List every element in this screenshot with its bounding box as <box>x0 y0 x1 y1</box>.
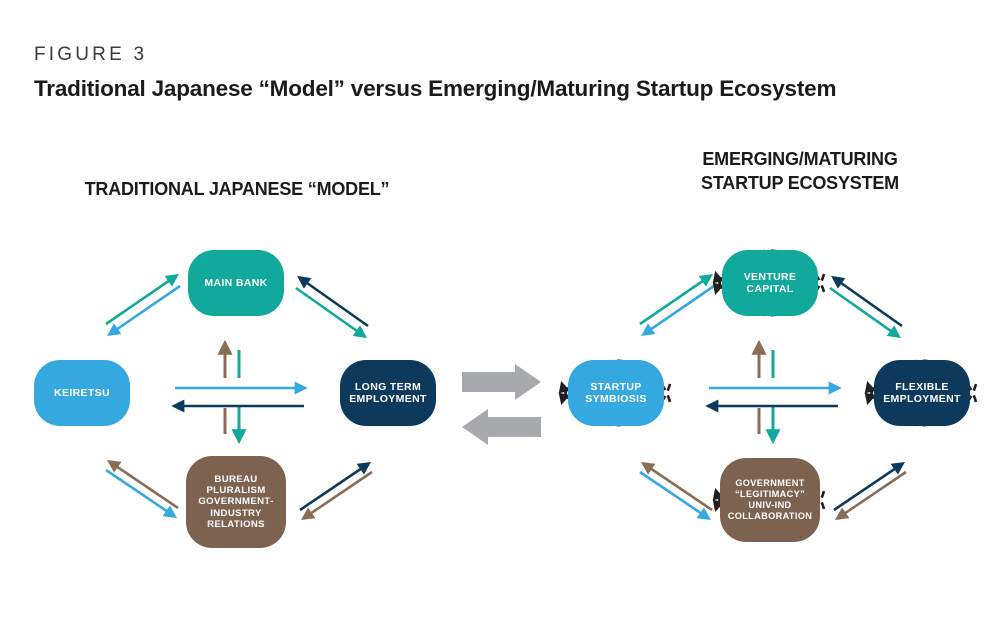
node-long-term-employment[interactable]: LONG TERM EMPLOYMENT <box>340 360 436 426</box>
node-flexible-employment-label: FLEXIBLE EMPLOYMENT <box>883 381 961 406</box>
arrow-pair-right-bottomright <box>834 464 906 518</box>
arrow-pair-right-bottomleft <box>640 464 712 518</box>
node-long-term-employment-label: LONG TERM EMPLOYMENT <box>349 381 427 406</box>
arrow-pair-left-bottomleft <box>106 462 178 516</box>
node-government-legitimacy-label: GOVERNMENT “LEGITIMACY” UNIV-IND COLLABO… <box>728 478 813 521</box>
arrow-pair-right-topleft <box>640 276 714 334</box>
arrow-pair-left-bottomright <box>300 464 372 518</box>
figure-root: FIGURE 3 Traditional Japanese “Model” ve… <box>0 0 1000 633</box>
arrow-center-right-cluster <box>709 344 838 440</box>
arrow-pair-left-topright <box>296 278 368 336</box>
node-main-bank-label: MAIN BANK <box>204 277 267 289</box>
arrow-layer <box>0 0 1000 633</box>
node-keiretsu[interactable]: KEIRETSU <box>34 360 130 426</box>
arrow-center-left-cluster <box>175 344 304 440</box>
node-main-bank[interactable]: MAIN BANK <box>188 250 284 316</box>
node-startup-symbiosis[interactable]: STARTUP SYMBIOSIS <box>568 360 664 426</box>
arrow-pair-left-topleft <box>106 276 180 334</box>
gray-transition-arrows <box>462 364 541 445</box>
node-startup-symbiosis-label: STARTUP SYMBIOSIS <box>585 381 647 406</box>
node-flexible-employment[interactable]: FLEXIBLE EMPLOYMENT <box>874 360 970 426</box>
node-bureau-pluralism-label: BUREAU PLURALISM GOVERNMENT- INDUSTRY RE… <box>198 474 273 530</box>
node-keiretsu-label: KEIRETSU <box>54 387 110 399</box>
node-bureau-pluralism[interactable]: BUREAU PLURALISM GOVERNMENT- INDUSTRY RE… <box>186 456 286 548</box>
arrow-pair-right-topright <box>830 278 902 336</box>
node-venture-capital[interactable]: VENTURE CAPITAL <box>722 250 818 316</box>
node-venture-capital-label: VENTURE CAPITAL <box>744 271 797 296</box>
node-government-legitimacy[interactable]: GOVERNMENT “LEGITIMACY” UNIV-IND COLLABO… <box>720 458 820 542</box>
